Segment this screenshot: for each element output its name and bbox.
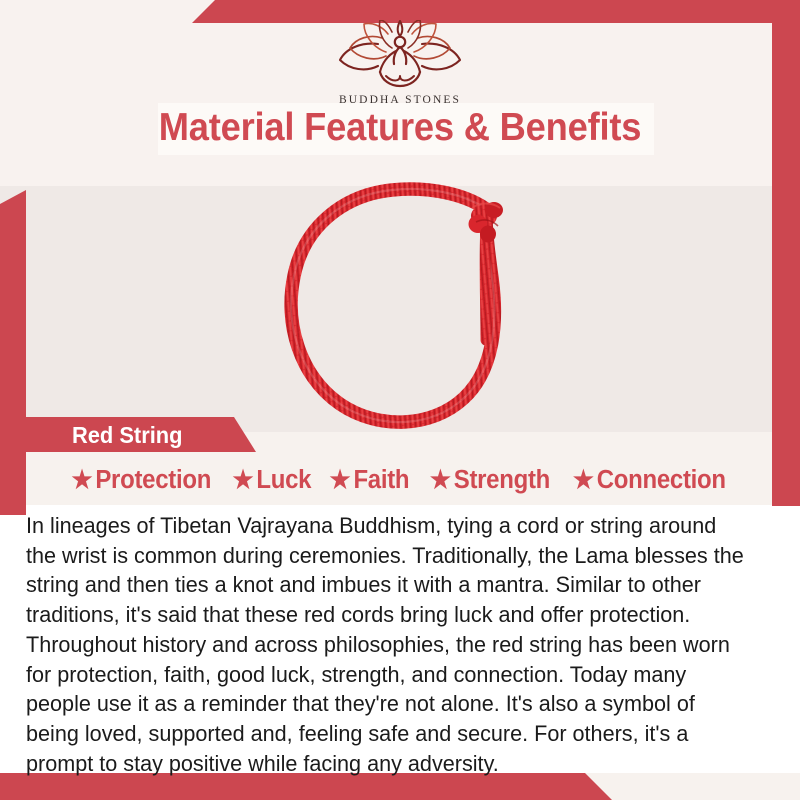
star-icon: ★ bbox=[430, 468, 451, 493]
description-text: In lineages of Tibetan Vajrayana Buddhis… bbox=[26, 511, 752, 778]
benefit-item: ★ Luck bbox=[232, 466, 311, 495]
benefit-item: ★ Protection bbox=[72, 466, 212, 495]
star-icon: ★ bbox=[232, 468, 253, 493]
benefit-item: ★ Strength bbox=[430, 466, 550, 495]
page-title: Material Features & Benefits bbox=[28, 106, 772, 150]
benefit-label: Luck bbox=[256, 466, 311, 495]
star-icon: ★ bbox=[330, 468, 351, 493]
lotus-meditation-figure-icon bbox=[334, 20, 466, 92]
benefit-label: Connection bbox=[597, 466, 726, 495]
benefit-label: Protection bbox=[96, 466, 212, 495]
benefits-list: ★ Protection ★ Luck ★ Faith ★ Strength ★… bbox=[26, 466, 772, 495]
decor-band-left bbox=[0, 190, 26, 515]
benefit-label: Faith bbox=[354, 466, 410, 495]
star-icon: ★ bbox=[573, 468, 594, 493]
benefit-label: Strength bbox=[454, 466, 550, 495]
red-string-bracelet-image bbox=[232, 172, 568, 440]
benefit-item: ★ Connection bbox=[573, 466, 726, 495]
infographic-page: BUDDHA STONES Material Features & Benefi… bbox=[0, 0, 800, 800]
benefit-item: ★ Faith bbox=[330, 466, 410, 495]
material-label: Red String bbox=[72, 422, 182, 449]
brand-logo: BUDDHA STONES bbox=[0, 20, 800, 106]
star-icon: ★ bbox=[72, 468, 93, 493]
